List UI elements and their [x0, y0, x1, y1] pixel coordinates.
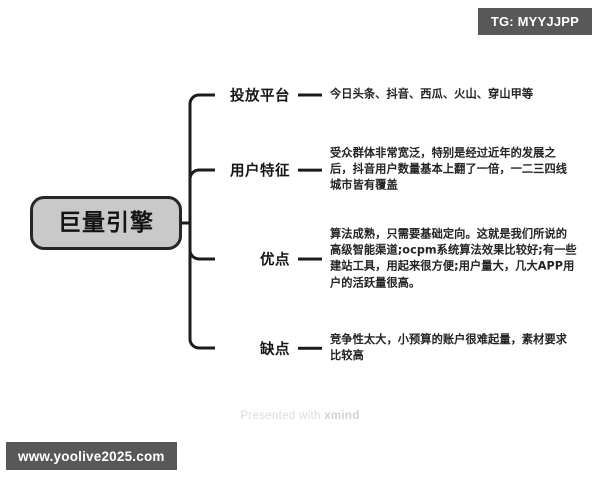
xmind-watermark: Presented with xmind — [0, 410, 600, 422]
branch-detail: 算法成熟，只需要基础定向。这就是我们所说的高级智能渠道;ocpm系统算法效果比较… — [330, 227, 578, 292]
telegram-handle-text: TG: MYYJJPP — [491, 14, 579, 29]
branch-label: 优点 — [198, 249, 290, 270]
branch-topic-投放平台[interactable]: 投放平台 今日头条、抖音、西瓜、火山、穿山甲等 — [198, 85, 570, 106]
branch-topic-缺点[interactable]: 缺点 竞争性太大，小预算的账户很难起量，素材要求比较高 — [198, 332, 578, 364]
branch-label: 缺点 — [198, 338, 290, 359]
branch-topic-优点[interactable]: 优点 算法成熟，只需要基础定向。这就是我们所说的高级智能渠道;ocpm系统算法效… — [198, 227, 578, 292]
branch-detail: 受众群体非常宽泛，特别是经过近年的发展之后，抖音用户数量基本上翻了一倍，一二三四… — [330, 146, 578, 195]
root-node[interactable]: 巨量引擎 — [30, 196, 182, 250]
branch-dash-icon — [298, 258, 322, 261]
branch-detail: 竞争性太大，小预算的账户很难起量，素材要求比较高 — [330, 332, 578, 364]
branch-dash-icon — [298, 347, 322, 350]
branch-label: 用户特征 — [198, 159, 290, 180]
website-url-text: www.yoolive2025.com — [18, 449, 165, 464]
root-node-label: 巨量引擎 — [58, 212, 154, 235]
branch-detail: 今日头条、抖音、西瓜、火山、穿山甲等 — [330, 87, 570, 103]
branch-topic-用户特征[interactable]: 用户特征 受众群体非常宽泛，特别是经过近年的发展之后，抖音用户数量基本上翻了一倍… — [198, 146, 578, 195]
watermark-brand: xmind — [324, 410, 359, 422]
branch-dash-icon — [298, 94, 322, 97]
website-url-badge: www.yoolive2025.com — [6, 442, 177, 470]
branch-label: 投放平台 — [198, 85, 290, 106]
watermark-prefix: Presented with — [240, 410, 324, 422]
branch-dash-icon — [298, 168, 322, 171]
telegram-handle-badge: TG: MYYJJPP — [478, 8, 592, 35]
mindmap-canvas: 巨量引擎 投放平台 今日头条、抖音、西瓜、火山、穿山甲等 用户特征 受众群体非常… — [0, 0, 600, 480]
